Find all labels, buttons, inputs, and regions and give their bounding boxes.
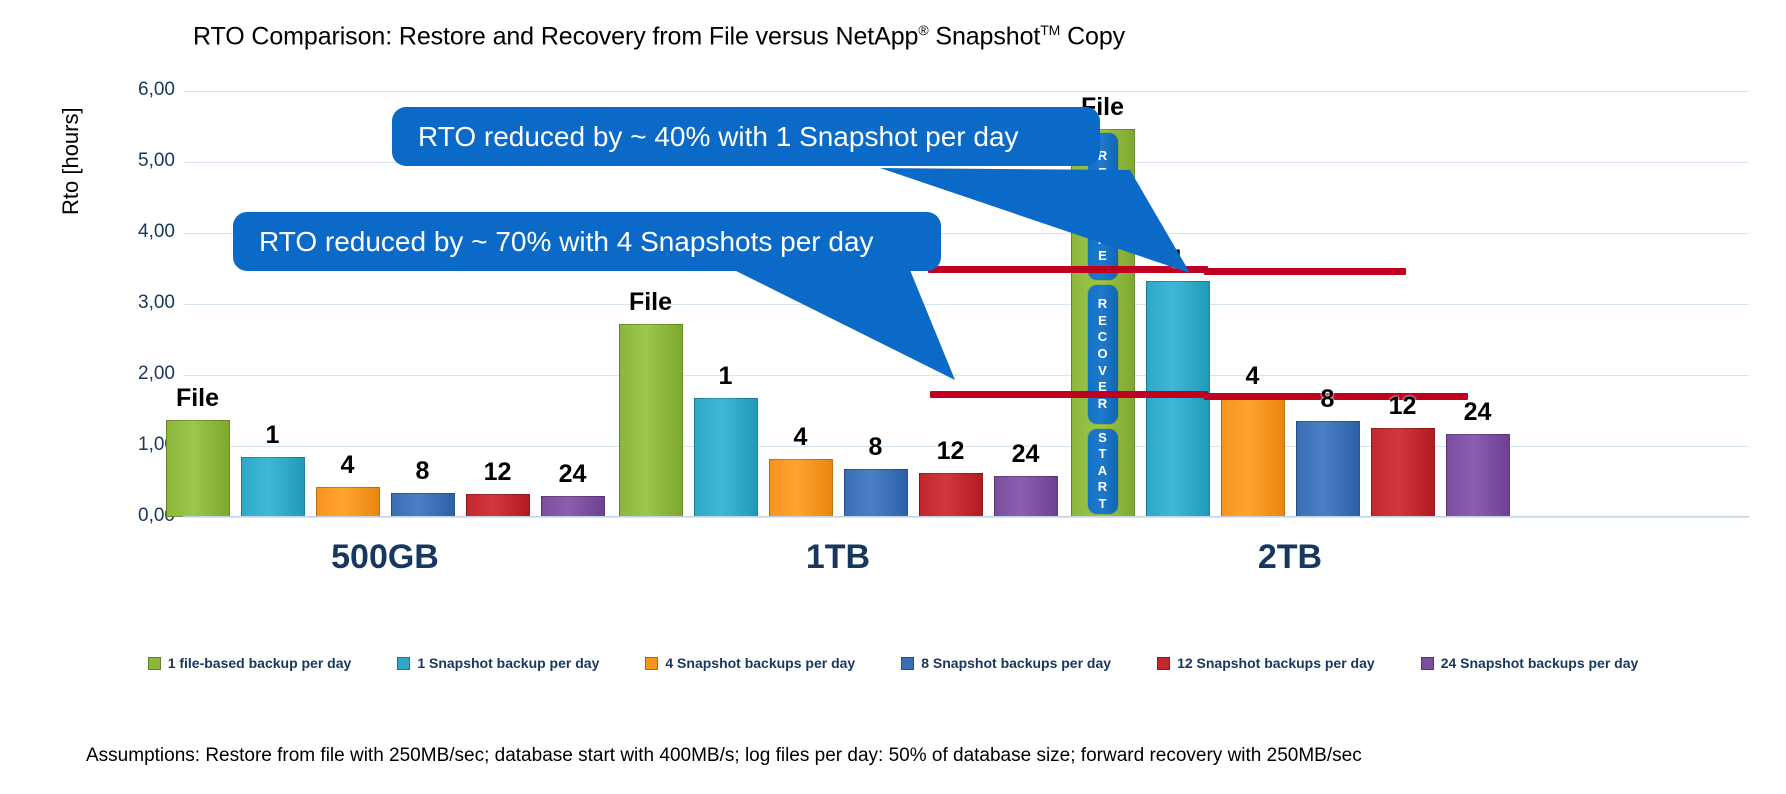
bar-1tb-1-file-based-backup-per-day[interactable] <box>619 324 683 517</box>
bar-value-label: 4 <box>759 423 843 452</box>
legend-swatch-icon <box>645 657 658 670</box>
trademark-mark-icon: TM <box>1040 22 1060 38</box>
legend-label: 24 Snapshot backups per day <box>1441 655 1639 671</box>
bar-value-label: 24 <box>531 460 615 489</box>
bar-500gb-24-snapshot-backups-per-day[interactable] <box>541 496 605 517</box>
bar-value-label: 4 <box>306 451 390 480</box>
legend-swatch-icon <box>901 657 914 670</box>
bar-500gb-1-snapshot-backup-per-day[interactable] <box>241 457 305 517</box>
bar-value-label: 12 <box>909 437 993 466</box>
bar-value-label: 8 <box>834 433 918 462</box>
callout-40-percent: RTO reduced by ~ 40% with 1 Snapshot per… <box>392 107 1100 166</box>
callout-70-percent: RTO reduced by ~ 70% with 4 Snapshots pe… <box>233 212 941 271</box>
x-axis-group-label-500gb: 500GB <box>265 538 505 577</box>
x-axis-group-label-2tb: 2TB <box>1170 538 1410 577</box>
bar-2tb-12-snapshot-backups-per-day[interactable] <box>1371 428 1435 517</box>
x-axis-group-label-1tb: 1TB <box>718 538 958 577</box>
bar-value-label: 8 <box>381 457 465 486</box>
legend-swatch-icon <box>1421 657 1434 670</box>
bar-value-label: 12 <box>456 458 540 487</box>
bar-value-label: File <box>156 384 240 413</box>
reference-line-upper-right <box>1204 268 1406 275</box>
callout-40-percent-text: RTO reduced by ~ 40% with 1 Snapshot per… <box>418 121 1019 153</box>
legend-swatch-icon <box>397 657 410 670</box>
y-axis-tick-label: 2,00 <box>105 363 175 385</box>
legend-swatch-icon <box>148 657 161 670</box>
chart-canvas: RTO Comparison: Restore and Recovery fro… <box>0 0 1786 794</box>
bar-500gb-4-snapshot-backups-per-day[interactable] <box>316 487 380 517</box>
bar-2tb-24-snapshot-backups-per-day[interactable] <box>1446 434 1510 517</box>
legend-item-4-snapshot-backups-per-day[interactable]: 4 Snapshot backups per day <box>645 655 855 671</box>
bar-value-label: 8 <box>1286 385 1370 414</box>
y-axis-tick-label: 3,00 <box>105 292 175 314</box>
bar-value-label: 12 <box>1361 392 1445 421</box>
legend-label: 1 file-based backup per day <box>168 655 352 671</box>
legend-item-8-snapshot-backups-per-day[interactable]: 8 Snapshot backups per day <box>901 655 1111 671</box>
bar-1tb-12-snapshot-backups-per-day[interactable] <box>919 473 983 517</box>
chart-legend: 1 file-based backup per day1 Snapshot ba… <box>0 655 1786 671</box>
y-axis-tick-label: 6,00 <box>105 79 175 101</box>
y-axis-tick-value: 5,00 <box>138 150 175 171</box>
bar-1tb-24-snapshot-backups-per-day[interactable] <box>994 476 1058 517</box>
y-axis-tick-value: 4,00 <box>138 221 175 242</box>
legend-item-24-snapshot-backups-per-day[interactable]: 24 Snapshot backups per day <box>1421 655 1639 671</box>
bar-value-label: 24 <box>984 440 1068 469</box>
bar-1tb-8-snapshot-backups-per-day[interactable] <box>844 469 908 517</box>
legend-label: 8 Snapshot backups per day <box>921 655 1111 671</box>
chart-title-part-1: RTO Comparison: Restore and Recovery fro… <box>193 22 918 50</box>
callout-tail-2 <box>730 268 970 388</box>
assumptions-note: Assumptions: Restore from file with 250M… <box>86 745 1362 767</box>
chart-title-part-3: Copy <box>1060 22 1125 50</box>
bar-500gb-12-snapshot-backups-per-day[interactable] <box>466 494 530 517</box>
reference-line-lower <box>930 391 1208 398</box>
y-axis-tick-label: 0,00 <box>105 505 175 527</box>
legend-item-12-snapshot-backups-per-day[interactable]: 12 Snapshot backups per day <box>1157 655 1375 671</box>
bar-1tb-1-snapshot-backup-per-day[interactable] <box>694 398 758 517</box>
y-axis-title: Rto [hours] <box>58 107 84 215</box>
x-axis-line <box>183 516 1749 517</box>
legend-label: 1 Snapshot backup per day <box>417 655 599 671</box>
legend-swatch-icon <box>1157 657 1170 670</box>
bar-value-label: File <box>609 288 693 317</box>
legend-item-1-snapshot-backup-per-day[interactable]: 1 Snapshot backup per day <box>397 655 599 671</box>
y-axis-tick-label: 1,00 <box>105 434 175 456</box>
y-axis-tick-label: 5,00 <box>105 150 175 172</box>
bar-2tb-1-snapshot-backup-per-day[interactable] <box>1146 281 1210 517</box>
bar-2tb-8-snapshot-backups-per-day[interactable] <box>1296 421 1360 517</box>
bar-value-label: 24 <box>1436 398 1520 427</box>
y-axis-tick-value: 3,00 <box>138 292 175 313</box>
stacked-segment-recover: RECOVER <box>1088 285 1118 423</box>
bar-value-label: 4 <box>1211 362 1295 391</box>
bar-500gb-1-file-based-backup-per-day[interactable] <box>166 420 230 517</box>
y-axis-tick-value: 6,00 <box>138 79 175 100</box>
legend-label: 12 Snapshot backups per day <box>1177 655 1375 671</box>
y-axis-tick-value: 2,00 <box>138 363 175 384</box>
y-axis-tick-label: 4,00 <box>105 221 175 243</box>
chart-title-part-2: Snapshot <box>929 22 1041 50</box>
legend-label: 4 Snapshot backups per day <box>665 655 855 671</box>
chart-title: RTO Comparison: Restore and Recovery fro… <box>193 22 1125 51</box>
gridline <box>183 517 1749 518</box>
bar-500gb-8-snapshot-backups-per-day[interactable] <box>391 493 455 517</box>
stacked-segment-start: START <box>1088 429 1118 514</box>
legend-item-1-file-based-backup-per-day[interactable]: 1 file-based backup per day <box>148 655 352 671</box>
bar-2tb-4-snapshot-backups-per-day[interactable] <box>1221 398 1285 517</box>
bar-1tb-4-snapshot-backups-per-day[interactable] <box>769 459 833 517</box>
callout-70-percent-text: RTO reduced by ~ 70% with 4 Snapshots pe… <box>259 226 874 258</box>
gridline <box>183 91 1749 92</box>
bar-value-label: 1 <box>231 421 315 450</box>
registered-mark-icon: ® <box>918 22 928 38</box>
